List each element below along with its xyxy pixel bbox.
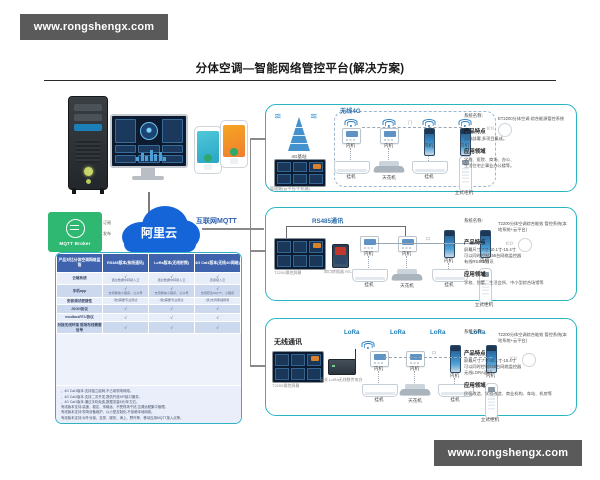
cloud-console-screen <box>274 159 326 187</box>
table-cell: √支持微信小程序、公众号 <box>149 285 195 297</box>
link-count-badge: 口 <box>432 350 436 356</box>
area-line: 民宿改造、学校改造、商业机构、车站、机房等 <box>464 391 570 397</box>
feature-line: 有线RS485通讯 <box>464 259 570 265</box>
device-label: 挂机 <box>352 282 386 288</box>
radio-tag-1: LoRa <box>344 329 359 336</box>
lora-gateway-icon <box>328 359 356 375</box>
table-cell: √直接接入云 <box>195 273 241 285</box>
network-tag-4g: 无线4G <box>340 106 361 115</box>
server-tower-icon <box>68 96 108 190</box>
signal-wave-right-icon: ≋ <box>310 111 318 122</box>
watermark-bottom: www.rongshengx.com <box>434 440 582 466</box>
table-cell: √ <box>103 322 149 334</box>
local-console-screen <box>274 238 326 270</box>
table-cell: √ <box>103 305 149 313</box>
solution-panel-lora[interactable]: 无线通讯 T2200操控屏幕 网关 LoRa无线数传电台 LoRa LoRa L… <box>265 318 577 416</box>
table-cell: √ <box>103 313 149 321</box>
network-tag-rs485: RS485通讯 <box>312 216 343 225</box>
table-row: JSON协议√√√ <box>57 305 241 313</box>
solution-panel-rs485[interactable]: RS485通讯 T2200操控屏幕 串口转换器 RS-232转 内机 挂机 内机… <box>265 207 577 301</box>
table-row: 云端系统√通过数据中转接入云√通过数据中转接入云√直接接入云 <box>57 273 241 285</box>
table-col-header: LoRa版本(无线射频) <box>149 254 195 273</box>
mobile-app-phone-1-icon <box>194 126 222 174</box>
table-cell: √ <box>195 322 241 334</box>
publish-subscribe-arrows: 订阅 发布 <box>103 220 117 242</box>
mobile-app-phone-2-icon <box>220 120 248 168</box>
table-cell: √ <box>195 305 241 313</box>
table-note-line: 有线版本支持:对外对接、支撑、服务、海上、野外等、移动应用MQTT接入点等。 <box>61 416 237 421</box>
table-cell: √ <box>149 313 195 321</box>
area-title: 应用领域 <box>464 147 570 155</box>
local-console-label: T2200操控屏幕 <box>272 383 299 389</box>
serial-converter-icon <box>332 244 349 268</box>
signal-wave-left-icon: ≋ <box>274 111 282 122</box>
panel-info-4g: 系统名称: ET2200分体空调 综合能源管控系统 产品特点 云端部署,多项目集… <box>464 113 570 169</box>
controller-label: 内机 <box>419 143 438 149</box>
system-name-value: ET2200分体空调 综合能源管控系统 <box>498 116 570 122</box>
table-row-label: 对接无线环境 现场布线需要信号 <box>57 322 103 334</box>
title-block: 分体空调—智能网络管控平台(解决方案) <box>38 60 562 86</box>
title-underline <box>44 80 556 81</box>
table-row-label: modbusRTU协议 <box>57 313 103 321</box>
system-name-value: T2200分体空调综合能效 管控系统(本地系统+云平台) <box>498 221 570 233</box>
device-label: 天花机 <box>390 283 424 289</box>
radio-tag-3: LoRa <box>430 329 445 336</box>
table-cell: √支持微信小程序、公众号 <box>103 285 149 297</box>
hardware-cluster <box>58 92 228 192</box>
publish-label: 发布 <box>103 231 111 237</box>
table-row-label: JSON协议 <box>57 305 103 313</box>
table-row: 对接无线环境 现场布线需要信号√√√ <box>57 322 241 334</box>
mqtt-broker-icon <box>66 219 85 238</box>
table-col-header: RS485版本(有线通讯) <box>103 254 149 273</box>
local-console-screen <box>272 351 324 383</box>
table-row: 安装调试便捷性(较)需要专业调试(较)需要专业调试(优)支持即插即用 <box>57 297 241 304</box>
system-name-value: T2200分体空调综合能效 管控系统(本地系统+云平台) <box>498 332 570 344</box>
table-col-header: 4G Cat1版本(无线4G网络) <box>195 254 241 273</box>
device-label: 挂机 <box>438 397 472 403</box>
device-label: 立式柜机 <box>469 302 499 308</box>
area-line: 学校、别墅、生活会所、中小型综合场馆等 <box>464 280 570 286</box>
local-console-label: T2200操控屏幕 <box>274 270 301 276</box>
table-cell: √ <box>149 305 195 313</box>
mqtt-broker-label: MQTT Broker <box>59 241 90 246</box>
feature-title: 产品特点 <box>464 349 570 357</box>
system-name-label: 系统名称: <box>464 218 483 223</box>
page-title: 分体空调—智能网络管控平台(解决方案) <box>38 60 562 76</box>
table-cell: (较)需要专业调试 <box>149 297 195 304</box>
feature-line: 云端部署,多项目集成。 <box>464 136 570 142</box>
cloud-console-label: 管理端(云平台/手机端) <box>270 186 310 192</box>
network-tag-lora: 无线通讯 <box>274 337 302 347</box>
table-header-row: 产品对比分体空调网络监管 RS485版本(有线通讯) LoRa版本(无线射频) … <box>57 254 241 273</box>
area-title: 应用领域 <box>464 270 570 278</box>
link-count-badge: 口 <box>426 236 430 242</box>
table-notes: 、4G Cat1版本:支持独立组网,不占用现场网络。、4G Cat1版本:支持二… <box>56 385 241 423</box>
device-label: 挂机 <box>412 174 446 180</box>
table-cell: (较)需要专业调试 <box>103 297 149 304</box>
lora-gateway-label: 网关 LoRa无线数传电台 <box>320 377 363 383</box>
panel-info-lora: 系统名称: T2200分体空调综合能效 管控系统(本地系统+云平台) 产品特点 … <box>464 329 570 397</box>
system-name-label: 系统名称: <box>464 113 483 118</box>
device-label: 立式柜机 <box>475 417 505 423</box>
table-row: modbusRTU协议√√√ <box>57 313 241 321</box>
spec-comparison-card[interactable]: 产品对比分体空调网络监管 RS485版本(有线通讯) LoRa版本(无线射频) … <box>55 252 242 424</box>
table-row-label: 云端系统 <box>57 273 103 285</box>
radio-tag-2: LoRa <box>390 329 405 336</box>
area-title: 应用领域 <box>464 381 570 389</box>
device-label: 天花机 <box>372 175 406 181</box>
aliyun-cloud-node: 阿里云 <box>116 202 202 254</box>
table-col-header: 产品对比分体空调网络监管 <box>57 254 103 273</box>
table-cell: √通过数据中转接入云 <box>149 273 195 285</box>
desktop-monitor-icon <box>110 114 188 168</box>
table-cell: √支持原生MQTT、小程序 <box>195 285 241 297</box>
table-cell: (优)支持即插即用 <box>195 297 241 304</box>
area-line: 生活住宅企事业办公楼等。 <box>464 163 570 169</box>
solution-panel-4g[interactable]: ≋ ≋ 4G基站 管理端(云平台/手机端) 无线4G 内机 挂机 内机 天花机 … <box>265 104 577 192</box>
device-label: 立式柜机 <box>449 190 479 196</box>
feature-line: 无线LORA通讯 <box>464 370 570 376</box>
table-row: 手机app√支持微信小程序、公众号√支持微信小程序、公众号√支持原生MQTT、小… <box>57 285 241 297</box>
feature-title: 产品特点 <box>464 127 570 135</box>
device-label: 挂机 <box>432 282 466 288</box>
panel-info-rs485: 系统名称: T2200分体空调综合能效 管控系统(本地系统+云平台) 产品特点 … <box>464 218 570 286</box>
watermark-top: www.rongshengx.com <box>20 14 168 40</box>
feature-title: 产品特点 <box>464 238 570 246</box>
internet-mqtt-link-label: 互联网MQTT <box>196 216 237 226</box>
system-name-label: 系统名称: <box>464 329 483 334</box>
aliyun-cloud-label: 阿里云 <box>116 224 202 241</box>
table-cell: √ <box>195 313 241 321</box>
subscribe-label: 订阅 <box>103 220 111 226</box>
table-cell: √ <box>149 322 195 334</box>
table-row-label: 安装调试便捷性 <box>57 297 103 304</box>
table-cell: √通过数据中转接入云 <box>103 273 149 285</box>
device-label: 挂机 <box>362 397 396 403</box>
table-row-label: 手机app <box>57 285 103 297</box>
mqtt-broker-node: MQTT Broker <box>48 212 102 252</box>
device-label: 天花机 <box>398 398 432 404</box>
link-count-badge: 门 <box>408 120 412 126</box>
device-label: 挂机 <box>334 174 368 180</box>
spec-comparison-table: 产品对比分体空调网络监管 RS485版本(有线通讯) LoRa版本(无线射频) … <box>56 253 241 334</box>
